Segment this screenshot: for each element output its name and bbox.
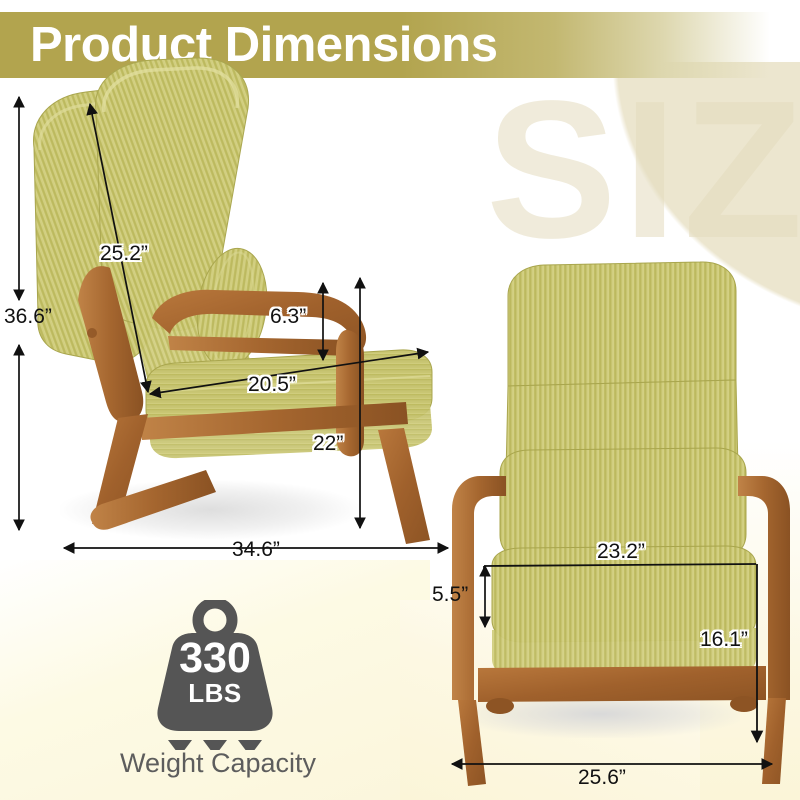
- weight-number: 330: [120, 636, 310, 680]
- right-chair-shadow: [460, 690, 740, 738]
- dim-overall-height: 36.6”: [4, 305, 52, 329]
- dim-seat-width: 23.2”: [597, 540, 645, 564]
- page-title: Product Dimensions: [30, 18, 497, 72]
- size-watermark-text: SIZE: [486, 72, 800, 268]
- dim-armrest-height: 22”: [313, 432, 343, 456]
- dim-armrest-above-seat: 6.3”: [270, 305, 306, 329]
- dim-overall-depth: 34.6”: [232, 538, 280, 562]
- dim-overall-width: 25.6”: [578, 766, 626, 790]
- dim-seat-depth: 20.5”: [248, 373, 296, 397]
- infographic-canvas: SIZE Product Dimensions: [0, 0, 800, 800]
- weight-capacity-caption: Weight Capacity: [68, 748, 368, 778]
- left-chair-shadow: [60, 480, 360, 540]
- dim-backrest-height: 25.2”: [100, 242, 148, 266]
- weight-capacity-block: 330 LBS Weight Capacity: [120, 600, 380, 790]
- weight-unit: LBS: [120, 680, 310, 707]
- right-edge-tint: [700, 440, 800, 800]
- dim-cushion-thickness: 5.5”: [432, 583, 468, 607]
- dim-seat-height: 16.1”: [700, 628, 748, 652]
